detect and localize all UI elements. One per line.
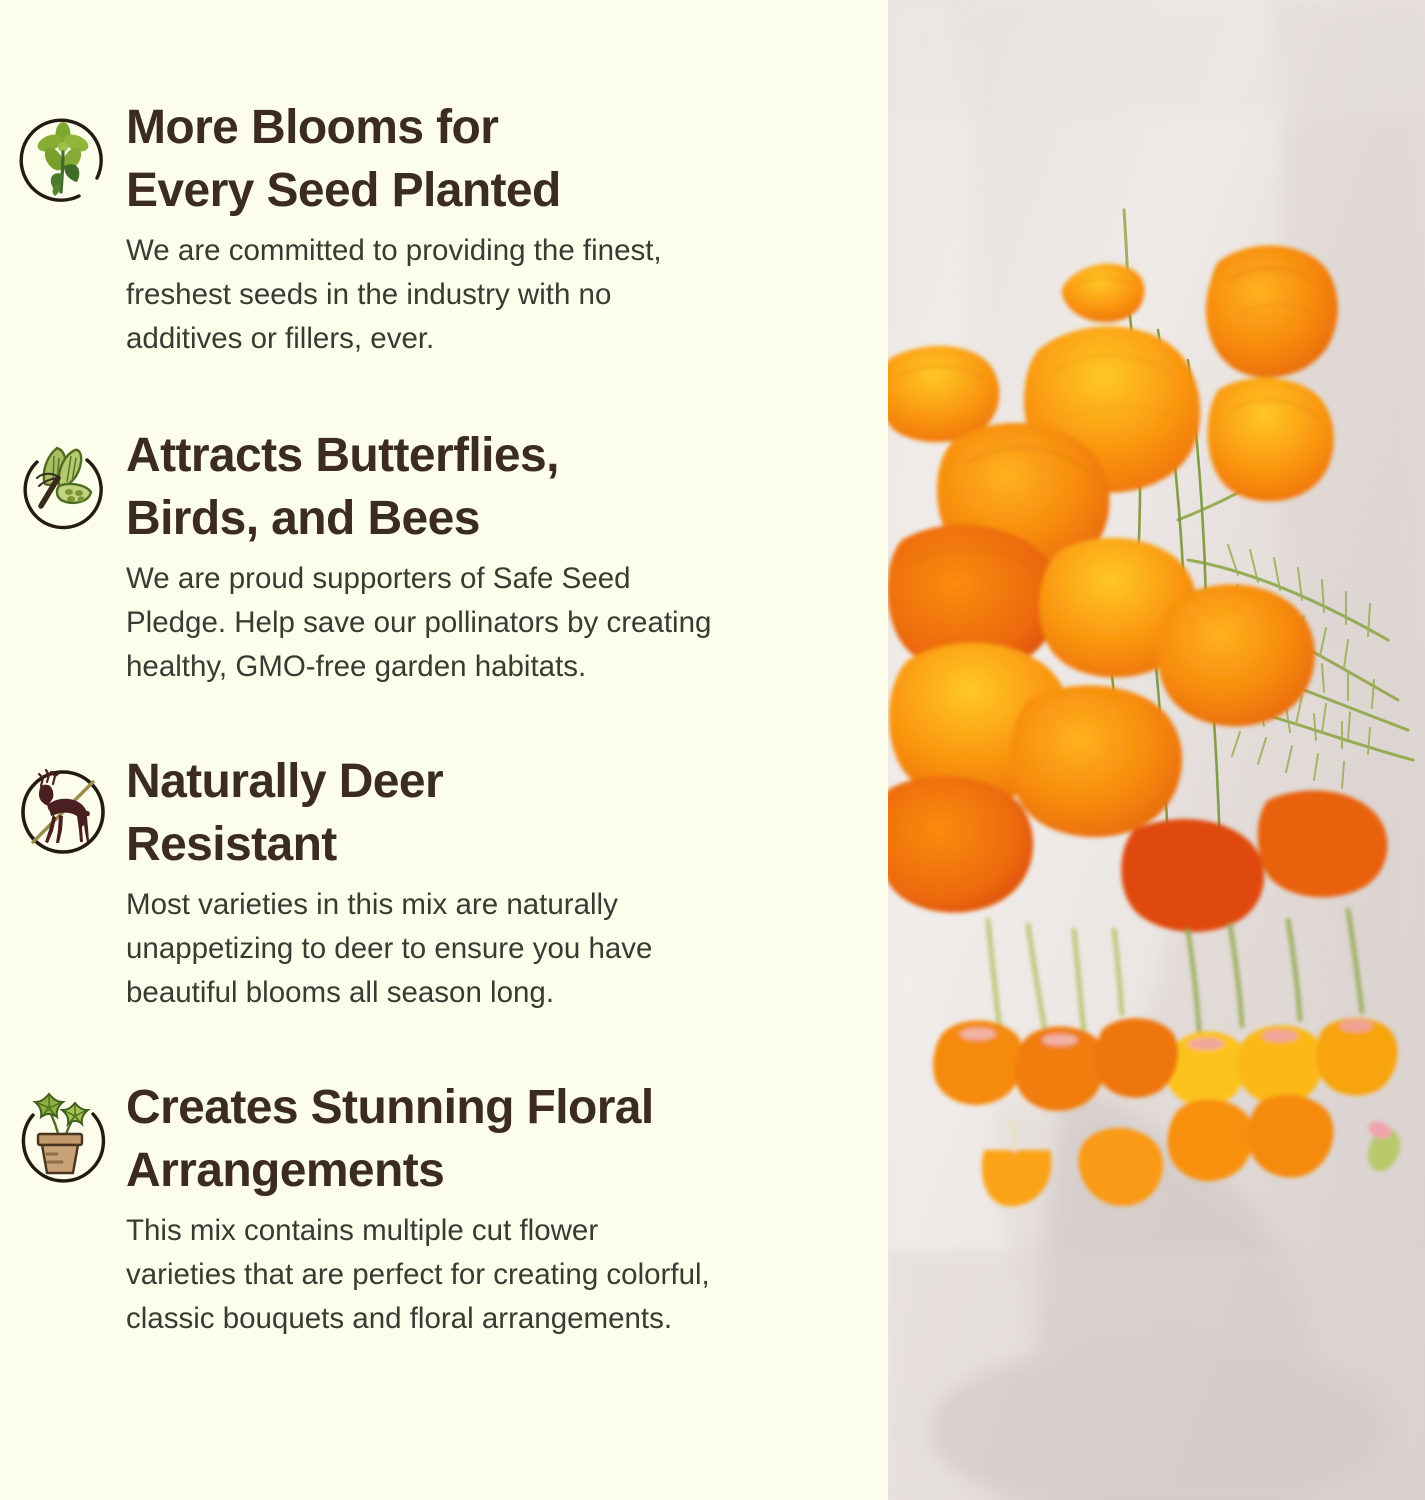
- features-panel: More Blooms for Every Seed Planted We ar…: [0, 0, 888, 1500]
- feature-item-more-blooms: More Blooms for Every Seed Planted We ar…: [0, 96, 866, 361]
- no-deer-icon: [0, 750, 126, 870]
- feature-title: Creates Stunning Floral Arrangements: [126, 1076, 836, 1203]
- potted-plant-in-circle-icon: [0, 1076, 126, 1196]
- flower-in-circle-icon: [0, 96, 126, 216]
- feature-item-attracts-pollinators: Attracts Butterflies, Birds, and Bees We…: [0, 424, 866, 689]
- feature-item-floral-arrangements: Creates Stunning Floral Arrangements Thi…: [0, 1076, 866, 1341]
- feature-description: We are committed to providing the finest…: [126, 229, 836, 362]
- feature-text-block: Attracts Butterflies, Birds, and Bees We…: [126, 424, 866, 689]
- feature-title: More Blooms for Every Seed Planted: [126, 96, 836, 223]
- feature-text-block: Naturally Deer Resistant Most varieties …: [126, 750, 866, 1015]
- feature-item-deer-resistant: Naturally Deer Resistant Most varieties …: [0, 750, 866, 1015]
- butterfly-in-circle-icon: [0, 424, 126, 544]
- feature-description: This mix contains multiple cut flower va…: [126, 1209, 836, 1342]
- feature-benefits-page: More Blooms for Every Seed Planted We ar…: [0, 0, 1425, 1500]
- feature-title: Naturally Deer Resistant: [126, 750, 836, 877]
- feature-text-block: Creates Stunning Floral Arrangements Thi…: [126, 1076, 866, 1341]
- feature-title: Attracts Butterflies, Birds, and Bees: [126, 424, 836, 551]
- feature-description: Most varieties in this mix are naturally…: [126, 883, 836, 1016]
- feature-text-block: More Blooms for Every Seed Planted We ar…: [126, 96, 866, 361]
- feature-description: We are proud supporters of Safe Seed Ple…: [126, 557, 836, 690]
- orange-california-poppy-bouquet-photo: [888, 0, 1425, 1500]
